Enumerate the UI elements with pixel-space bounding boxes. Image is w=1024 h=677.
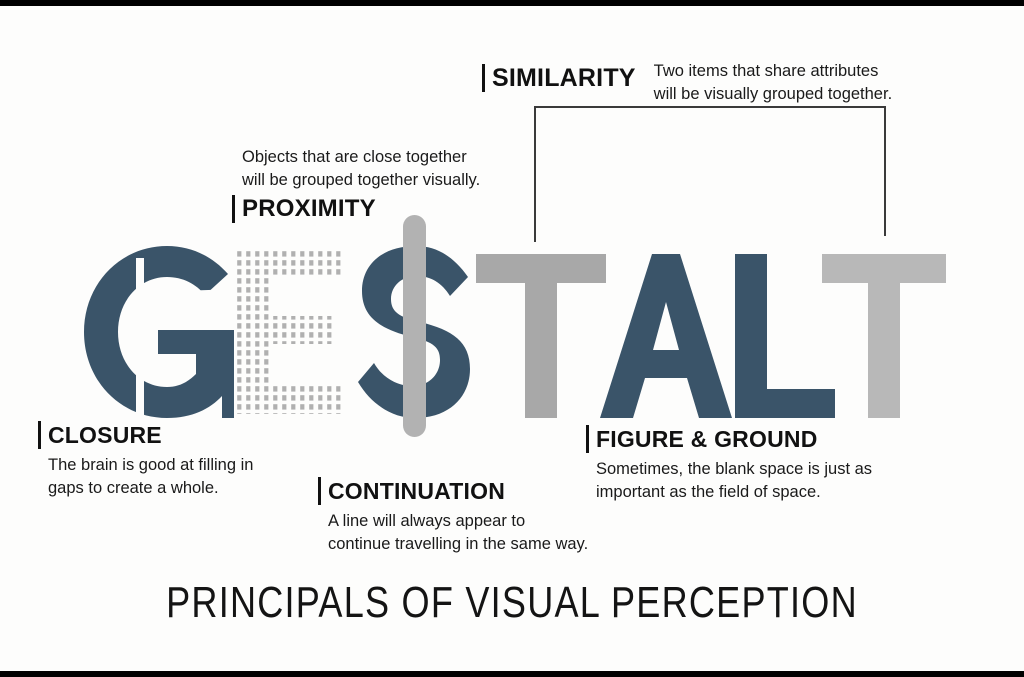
similarity-title: SIMILARITY [492, 64, 636, 92]
annotation-similarity: SIMILARITY Two items that share attribut… [482, 60, 892, 105]
letter-g-closure [84, 246, 234, 418]
bracket-left-line [534, 106, 536, 242]
closure-description: The brain is good at filling in gaps to … [38, 454, 253, 499]
continuation-title: CONTINUATION [328, 477, 505, 505]
closure-title: CLOSURE [48, 421, 162, 449]
accent-bar-icon [232, 195, 235, 223]
annotation-continuation: CONTINUATION A line will always appear t… [318, 477, 588, 555]
proximity-title: PROXIMITY [242, 195, 376, 223]
annotation-closure: CLOSURE The brain is good at filling in … [38, 421, 253, 499]
accent-bar-icon [318, 477, 321, 505]
accent-bar-icon [586, 425, 589, 453]
figure-ground-description: Sometimes, the blank space is just as im… [586, 458, 872, 503]
annotation-proximity: Objects that are close together will be … [232, 146, 480, 223]
similarity-bracket [534, 106, 886, 242]
gestalt-wordmark [0, 232, 1024, 442]
similarity-description: Two items that share attributes will be … [654, 60, 892, 105]
letter-t-first [476, 254, 606, 418]
continuation-description: A line will always appear to continue tr… [318, 510, 588, 555]
bracket-top-line [534, 106, 886, 108]
letter-t-second [822, 254, 946, 418]
poster-footer-title: PRINCIPALS OF VISUAL PERCEPTION [92, 578, 932, 628]
accent-bar-icon [38, 421, 41, 449]
similarity-title-row: SIMILARITY [482, 60, 636, 92]
letter-e-proximity [236, 250, 344, 414]
annotation-figure-ground: FIGURE & GROUND Sometimes, the blank spa… [586, 425, 872, 503]
proximity-description: Objects that are close together will be … [232, 146, 480, 191]
accent-bar-icon [482, 64, 485, 92]
closure-title-row: CLOSURE [38, 421, 253, 449]
bracket-right-line [884, 106, 886, 236]
proximity-title-row: PROXIMITY [232, 195, 480, 223]
letter-a-solid [600, 254, 732, 418]
figure-ground-title-row: FIGURE & GROUND [586, 425, 872, 453]
infographic-stage: SIMILARITY Two items that share attribut… [0, 0, 1024, 677]
continuation-line [403, 215, 426, 437]
figure-ground-title: FIGURE & GROUND [596, 425, 818, 453]
continuation-title-row: CONTINUATION [318, 477, 588, 505]
letter-l-solid [735, 254, 835, 418]
